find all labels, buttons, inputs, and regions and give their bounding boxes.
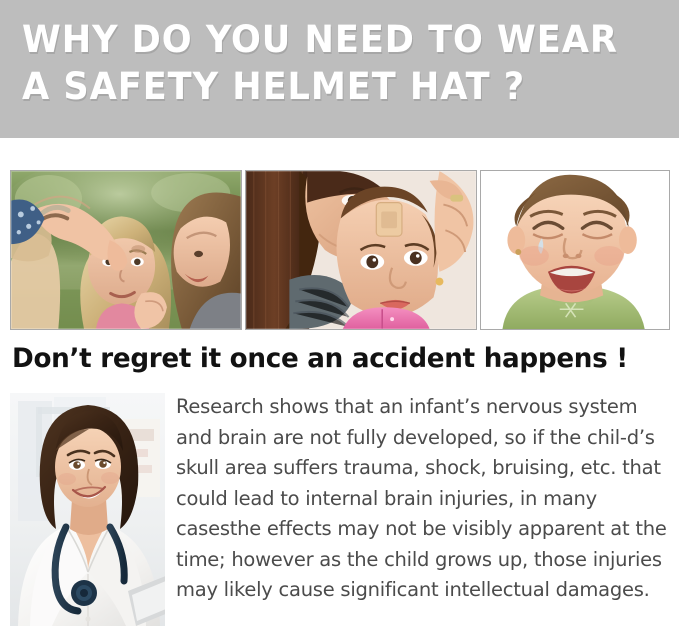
photo-child-head-injury-examined-graphic [11,171,241,329]
body-paragraph: Research shows that an infant’s nervous … [176,392,676,606]
photo-female-doctor [10,393,165,626]
photo-female-doctor-graphic [10,393,165,626]
photo-strip [10,170,670,330]
page-title: Why do you need to wear A safety helmet … [22,16,630,110]
header-banner: Why do you need to wear A safety helmet … [0,0,679,138]
photo-crying-toddler-graphic [481,171,669,329]
subheadline: Don’t regret it once an accident happens… [12,342,652,376]
photo-mother-kissing-bandaged-forehead [245,170,477,330]
photo-crying-toddler [480,170,670,330]
photo-mother-kissing-bandaged-forehead-graphic [246,171,476,329]
photo-child-head-injury-examined [10,170,242,330]
